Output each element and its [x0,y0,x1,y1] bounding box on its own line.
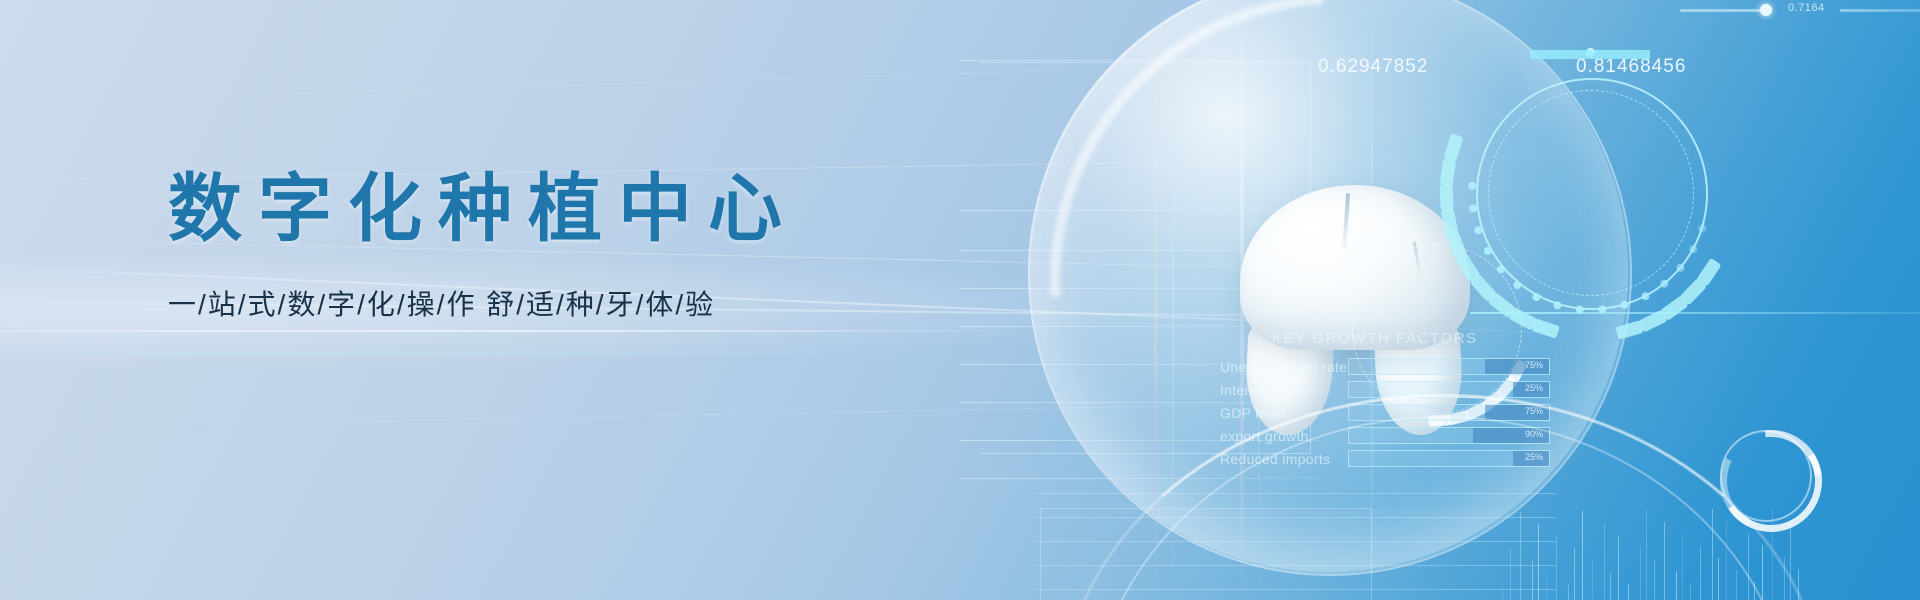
headline-block: 数字化种植中心 一/站/式/数/字/化/操/作 舒/适/种/牙/体/验 [168,168,798,323]
data-bar [1736,570,1737,600]
data-bar [1502,586,1503,600]
panel-row-bar: 75% [1348,358,1550,375]
gauge-dot [1660,280,1668,288]
data-bar [1556,536,1557,600]
gauge-segment [1440,158,1456,186]
data-bar [1798,569,1799,600]
data-bar [1532,561,1533,600]
data-bar [1574,548,1575,600]
page-title: 数字化种植中心 [168,168,798,249]
metric-readout-left: 0.62947852 [1318,56,1428,78]
data-bar [1790,520,1791,600]
gauge-dot [1497,265,1505,273]
accent-bar [1530,50,1650,59]
tooth-fissure [1342,193,1350,253]
panel-row: Interest rate25% [1220,380,1550,399]
accent-line [1470,312,1920,314]
data-bar [1604,523,1605,600]
gauge-dot [1689,245,1697,253]
gauge-dot [1698,225,1706,233]
data-bar [1718,558,1719,600]
data-bar [1654,559,1655,600]
page-subtitle: 一/站/式/数/字/化/操/作 舒/适/种/牙/体/验 [168,283,798,323]
data-bar [1546,573,1547,600]
hero-banner: 数字化种植中心 一/站/式/数/字/化/操/作 舒/适/种/牙/体/验 [0,0,1920,600]
panel-row-label: Unemployment rate [1220,359,1348,375]
gauge-dot [1484,247,1492,255]
hud-slider[interactable]: 0.7164 [1680,4,1880,16]
data-bar [1676,571,1677,600]
panel-title: KEY GROWTH FACTORS [1272,330,1550,347]
gauge-dot [1532,293,1540,301]
gauge-segment [1440,184,1454,210]
gauge-dot [1676,264,1684,272]
data-bar [1538,524,1539,600]
metric-readout-right: 0.81468456 [1576,56,1686,78]
panel-row-label: Interest rate [1220,382,1348,398]
data-bar [1754,582,1755,600]
data-bar [1700,546,1701,600]
data-bar [1726,521,1727,600]
gauge-dot [1641,292,1649,300]
data-bar [1646,510,1647,600]
data-bar [1712,509,1713,600]
hud-data-bars [1496,480,1796,600]
data-bar [1592,560,1593,600]
data-bar [1510,549,1511,600]
data-bar [1618,535,1619,600]
data-bar [1582,511,1583,600]
data-bar [1568,585,1569,600]
gauge-segment [1615,320,1644,340]
gauge-dot [1554,301,1562,309]
light-streak-cyan [0,352,998,354]
hud-composition: 0.62947852 0.81468456 0.7164 KEY GROWTH … [940,0,1920,600]
data-bar [1762,545,1763,600]
panel-row-percent: 25% [1525,383,1543,393]
data-bar [1520,512,1521,600]
data-bar [1690,583,1691,600]
panel-row-percent: 75% [1525,360,1543,370]
gauge-dot [1513,281,1521,289]
slider-knob[interactable] [1760,4,1772,16]
slider-tail-line [1840,9,1920,12]
data-bar [1640,547,1641,600]
panel-row: Unemployment rate75% [1220,357,1550,376]
gauge-dot [1474,226,1482,234]
light-streak [0,330,1037,332]
gauge-ring-dots [1470,72,1710,312]
data-bar [1682,534,1683,600]
data-bar [1784,557,1785,600]
data-bar [1628,584,1629,600]
gauge-dot [1469,204,1477,212]
data-bar [1664,522,1665,600]
data-bar [1772,508,1773,600]
data-bar [1610,572,1611,600]
gauge-dot [1468,182,1476,190]
data-bar [1748,533,1749,600]
slider-track[interactable] [1680,9,1770,12]
slider-value: 0.7164 [1788,2,1825,14]
gauge-dot [1621,301,1629,309]
